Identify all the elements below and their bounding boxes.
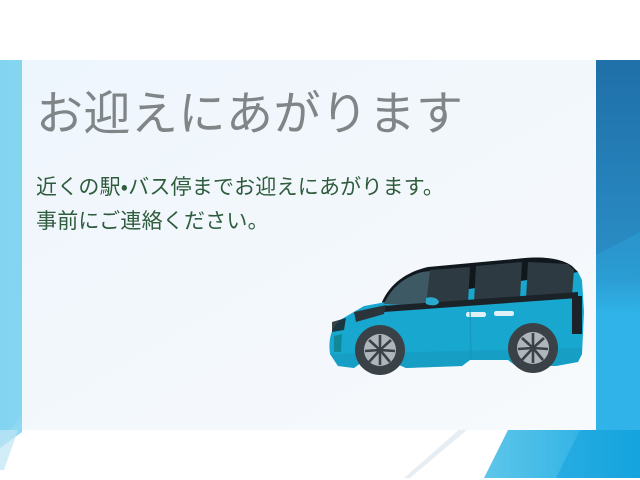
text-block: お迎えにあがります 近くの駅・バス停までお迎えにあがります。 事前にご連絡くださ… [36, 88, 576, 239]
subtitle-line-1: 近くの駅・バス停までお迎えにあがります。 [36, 171, 576, 205]
slide-canvas: お迎えにあがります 近くの駅・バス停までお迎えにあがります。 事前にご連絡くださ… [0, 0, 640, 480]
bottom-left-stripe [0, 430, 18, 470]
page-title: お迎えにあがります [36, 88, 576, 141]
minivan-svg [320, 250, 596, 395]
content-panel: お迎えにあがります 近くの駅・バス停までお迎えにあがります。 事前にご連絡くださ… [22, 60, 596, 430]
van-rear-wheel [508, 323, 558, 373]
van-door-handle-rear [494, 311, 514, 316]
subtitle-text: 近くの駅・バス停までお迎えにあがります。 事前にご連絡ください。 [36, 141, 576, 239]
subtitle-line-2: 事前にご連絡ください。 [36, 205, 576, 239]
van-headlight [332, 318, 346, 332]
van-front-marker [334, 334, 342, 352]
minivan-illustration [320, 250, 596, 395]
van-front-wheel [355, 325, 405, 375]
van-door-handle-front [466, 312, 486, 317]
van-door-seam [470, 308, 471, 360]
left-accent-taper [0, 60, 22, 448]
van-taillight [572, 296, 582, 334]
van-middle-window [474, 262, 522, 302]
